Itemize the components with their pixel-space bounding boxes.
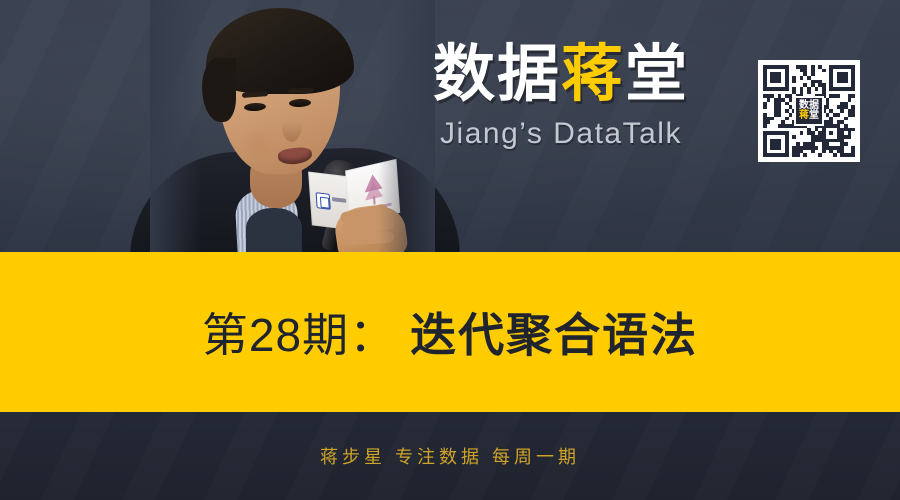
qr-logo-line2-highlight: 蒋 (799, 110, 809, 121)
photo-edge-blend (150, 0, 435, 252)
qr-code-modules: 数据 蒋堂 (763, 65, 855, 157)
brand-title: 数据蒋堂 (416, 42, 706, 107)
episode-banner-text: 第28期：迭代聚合语法 (202, 299, 698, 365)
poster-canvas: 数据蒋堂 Jiang’s DataTalk 数据 蒋堂 第28期：迭代聚合语法 … (0, 0, 900, 500)
episode-topic: 迭代聚合语法 (410, 309, 698, 361)
brand-lockup: 数据蒋堂 Jiang’s DataTalk (416, 42, 706, 151)
qr-logo-line2-rest: 堂 (809, 110, 819, 121)
qr-code[interactable]: 数据 蒋堂 (758, 60, 860, 162)
brand-subtitle: Jiang’s DataTalk (416, 117, 706, 151)
footer-tagline: 蒋步星 专注数据 每周一期 (320, 443, 580, 469)
brand-title-part2: 堂 (625, 40, 689, 109)
hero-photo-band: 数据蒋堂 Jiang’s DataTalk 数据 蒋堂 (0, 0, 900, 252)
speaker-photo (150, 0, 435, 252)
brand-title-part1: 数据 (433, 40, 561, 109)
episode-number: 第28期： (202, 309, 396, 361)
footer-band: 蒋步星 专注数据 每周一期 (0, 412, 900, 500)
qr-center-logo: 数据 蒋堂 (794, 96, 824, 126)
brand-title-highlight: 蒋 (561, 40, 625, 109)
episode-banner: 第28期：迭代聚合语法 (0, 252, 900, 412)
